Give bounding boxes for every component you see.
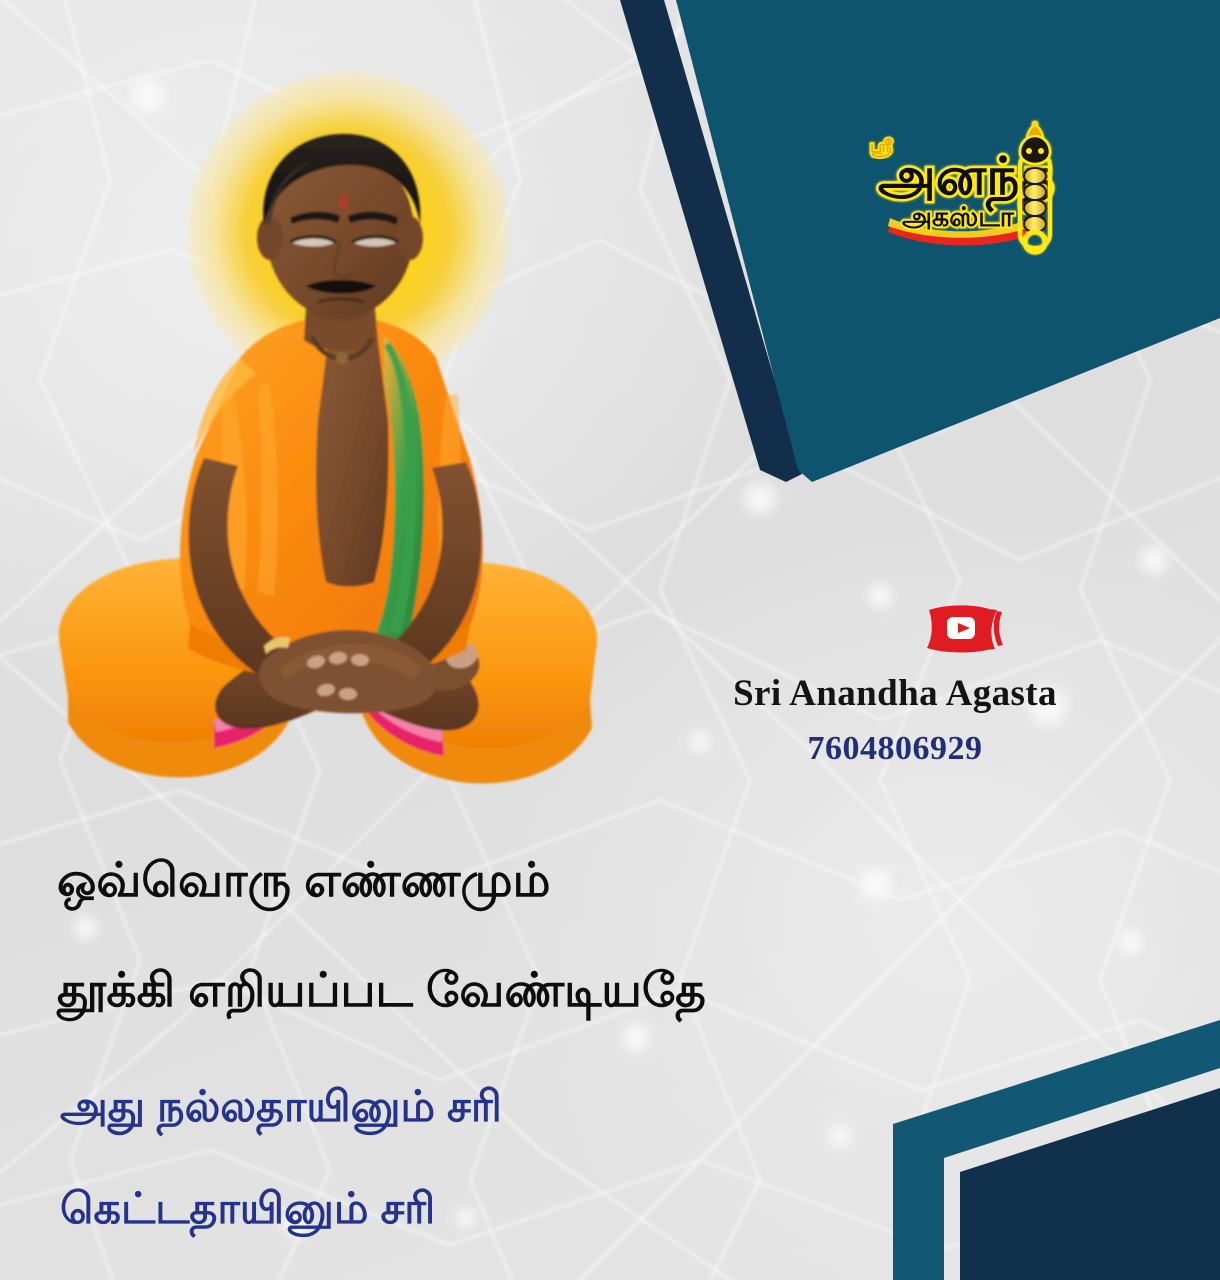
logo-sri-text: ஸ்ரீ [870,137,893,157]
quote-line-3: அது நல்லதாயினும் சரி [60,1086,502,1129]
phone-number[interactable]: 7604806929 [600,730,1190,768]
sri-anandha-agasta-logo: அனந்த ஸ்ரீ அகஸ்டா [862,118,1074,258]
logo-agasta-text: அகஸ்டா [902,202,1015,232]
channel-name: Sri Anandha Agasta [600,672,1190,715]
meditating-guru-photo [18,90,638,790]
quote-line-1: ஒவ்வொரு எண்ணமும் [57,856,550,903]
poster-root: அனந்த ஸ்ரீ அகஸ்டா [0,0,1220,1280]
quote-line-4: கெட்டதாயினும் சரி [60,1188,435,1231]
youtube-play-flag-icon[interactable] [925,600,1005,656]
quote-line-2: தூக்கி எறியப்பட வேண்டியதே [57,966,706,1013]
